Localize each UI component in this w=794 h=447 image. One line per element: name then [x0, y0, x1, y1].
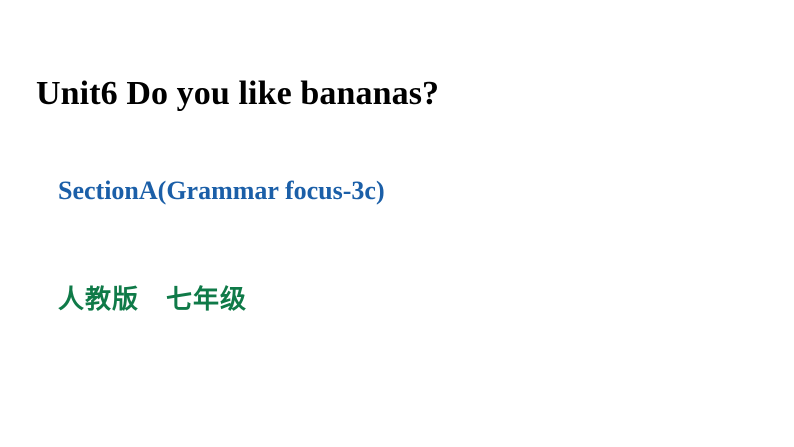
slide-canvas: Unit6 Do you like bananas? SectionA(Gram… [0, 0, 794, 447]
slide-title: Unit6 Do you like bananas? [36, 74, 439, 114]
slide-subtitle: SectionA(Grammar focus-3c) [58, 176, 385, 206]
slide-edition-grade: 人教版 七年级 [58, 284, 247, 316]
